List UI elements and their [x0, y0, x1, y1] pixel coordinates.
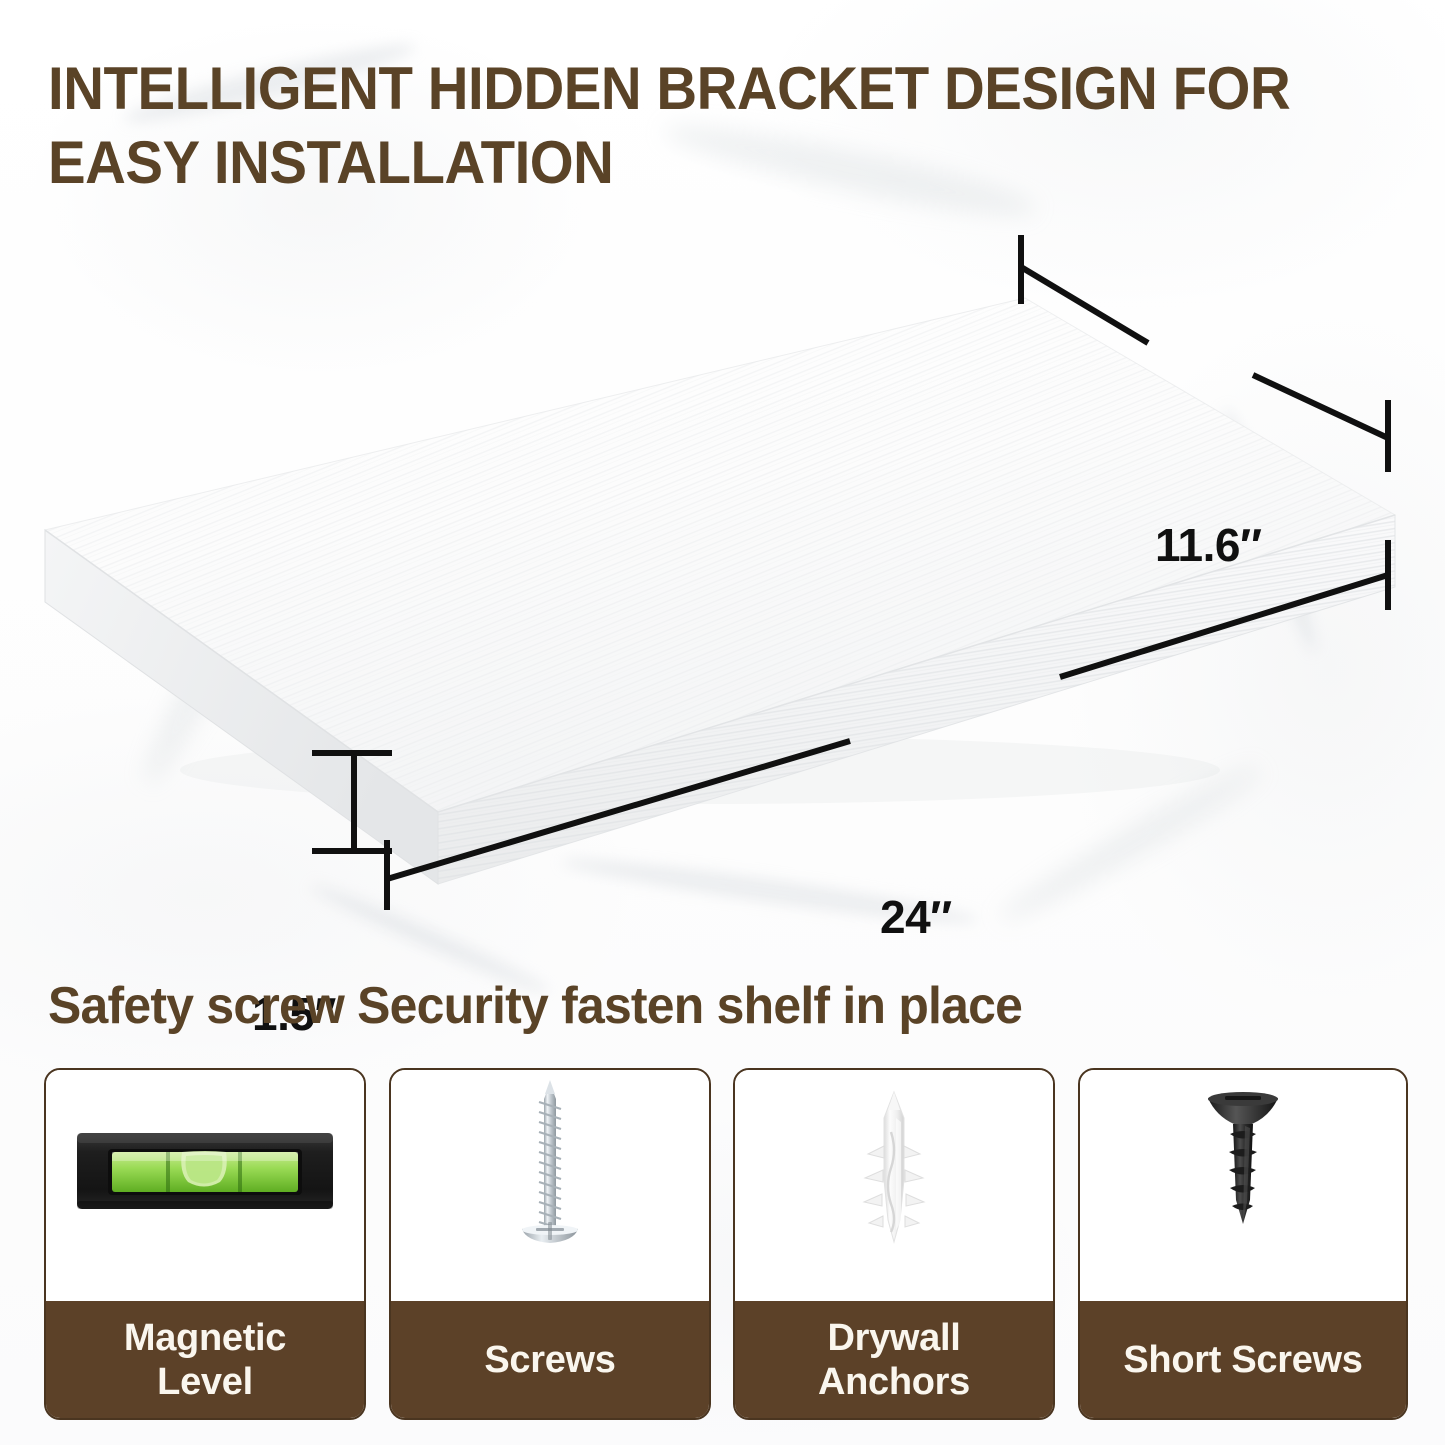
infographic-canvas: INTELLIGENT HIDDEN BRACKET DESIGN FOR EA…: [0, 0, 1445, 1445]
hardware-card-magnetic-level[interactable]: Magnetic Level: [44, 1068, 366, 1420]
hardware-card-screws[interactable]: Screws: [389, 1068, 711, 1420]
product-illustration: 11.6″ 24″ 1.5″: [0, 210, 1445, 910]
drywall-anchor-icon: [864, 1092, 924, 1242]
section-subtitle: Safety screw Security fasten shelf in pl…: [48, 975, 1334, 1037]
short-black-screw-icon: [1208, 1092, 1278, 1224]
short-screws-image: [1080, 1070, 1406, 1302]
screws-image: [391, 1070, 709, 1302]
screws-label-bar: Screws: [391, 1301, 709, 1418]
dimension-label-depth: 11.6″: [1155, 518, 1262, 572]
magnetic-level-image: [46, 1070, 364, 1302]
hardware-card-list: Magnetic Level: [0, 1068, 1445, 1428]
short-screws-label-bar: Short Screws: [1080, 1301, 1406, 1418]
short-screws-label: Short Screws: [1117, 1338, 1368, 1382]
drywall-anchors-label: Drywall Anchors: [812, 1316, 976, 1404]
screws-label: Screws: [478, 1338, 621, 1382]
drywall-anchors-label-bar: Drywall Anchors: [735, 1301, 1053, 1418]
page-title: INTELLIGENT HIDDEN BRACKET DESIGN FOR EA…: [48, 52, 1336, 200]
dimension-label-width: 24″: [880, 890, 952, 944]
long-screw-icon: [522, 1080, 578, 1243]
bubble-level-icon: [77, 1133, 333, 1209]
hardware-card-short-screws[interactable]: Short Screws: [1078, 1068, 1408, 1420]
magnetic-level-label-bar: Magnetic Level: [46, 1301, 364, 1418]
hardware-card-drywall-anchors[interactable]: Drywall Anchors: [733, 1068, 1055, 1420]
drywall-anchors-image: [735, 1070, 1053, 1302]
magnetic-level-label: Magnetic Level: [118, 1316, 292, 1404]
